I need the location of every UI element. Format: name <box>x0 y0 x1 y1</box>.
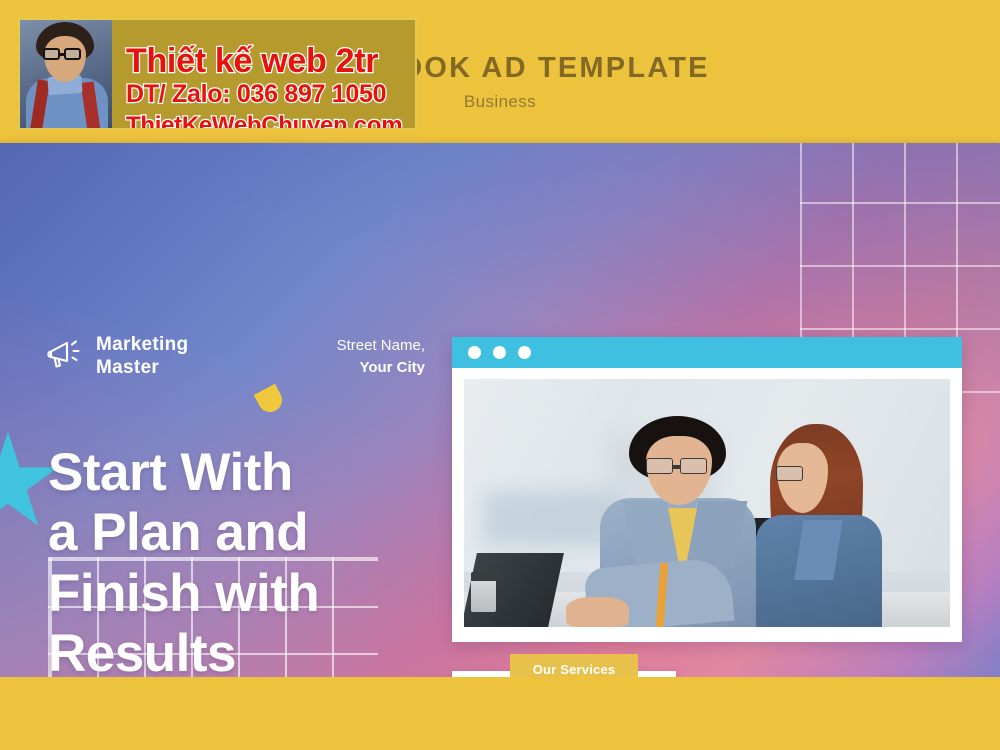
page-footer <box>0 677 1000 750</box>
crescent-decoration-icon <box>254 384 286 416</box>
watermark-portrait-photo <box>20 20 112 128</box>
logo-line-1: Marketing <box>96 333 188 356</box>
watermark-line-2: DT/ Zalo: 036 897 1050 <box>126 80 386 109</box>
headline-line-2: a Plan and <box>48 503 319 563</box>
ad-banner: Marketing Master Street Name, Your City … <box>0 143 1000 677</box>
browser-title-bar <box>452 337 962 368</box>
browser-dot-minimize-icon[interactable] <box>493 346 506 359</box>
services-card: Our Services <box>452 671 676 677</box>
team-photo <box>464 379 950 627</box>
browser-dot-close-icon[interactable] <box>468 346 481 359</box>
services-badge: Our Services <box>510 654 638 677</box>
browser-content <box>452 368 962 642</box>
watermark-line-3: ThietKeWebChuyen.com <box>126 112 402 130</box>
headline-line-3: Finish with <box>48 564 319 624</box>
megaphone-icon <box>45 337 85 376</box>
address-line-2: Your City <box>337 357 425 379</box>
watermark-overlay: Thiết kế web 2tr DT/ Zalo: 036 897 1050 … <box>18 18 417 130</box>
headline: Start With a Plan and Finish with Result… <box>48 443 319 677</box>
logo-text: Marketing Master <box>96 333 188 379</box>
headline-line-4: Results <box>48 624 319 677</box>
address-block: Street Name, Your City <box>337 335 425 379</box>
logo-line-2: Master <box>96 356 188 379</box>
browser-mockup <box>452 337 962 642</box>
watermark-line-1: Thiết kế web 2tr <box>126 42 378 81</box>
brand-logo: Marketing Master <box>45 333 188 379</box>
address-line-1: Street Name, <box>337 335 425 357</box>
headline-line-1: Start With <box>48 443 319 503</box>
browser-dot-maximize-icon[interactable] <box>518 346 531 359</box>
